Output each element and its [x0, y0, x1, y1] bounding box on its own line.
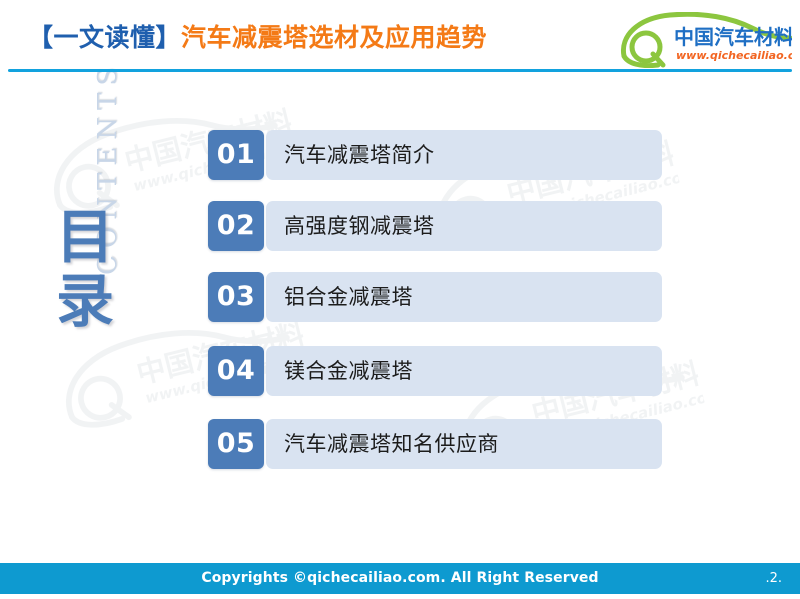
contents-list: 01 汽车减震塔简介 02 高强度钢减震塔 03 铝合金减震塔 04 镁合金减震…: [0, 0, 800, 599]
copyright-text: Copyrights ©qichecailiao.com. All Right …: [0, 563, 800, 594]
list-item-number: 01: [208, 130, 264, 180]
list-item[interactable]: 03 铝合金减震塔: [208, 272, 662, 322]
header-divider: [8, 69, 792, 72]
list-item-label: 铝合金减震塔: [284, 272, 413, 322]
list-item[interactable]: 04 镁合金减震塔: [208, 346, 662, 396]
list-item-label: 汽车减震塔简介: [284, 130, 435, 180]
list-item[interactable]: 02 高强度钢减震塔: [208, 201, 662, 251]
title-bracket-text: 【一文读懂】: [28, 23, 181, 52]
list-item-number: 03: [208, 272, 264, 322]
list-item-number: 02: [208, 201, 264, 251]
list-item[interactable]: 05 汽车减震塔知名供应商: [208, 419, 662, 469]
list-item-label: 高强度钢减震塔: [284, 201, 435, 251]
svg-text:中国汽车材料网: 中国汽车材料网: [674, 25, 792, 49]
title-main-text: 汽车减震塔选材及应用趋势: [181, 23, 487, 52]
svg-text:www.qichecailiao.com: www.qichecailiao.com: [676, 49, 792, 62]
slide-header: 【一文读懂】汽车减震塔选材及应用趋势 中国汽车材料网 www.qichecail…: [0, 0, 800, 72]
page-title: 【一文读懂】汽车减震塔选材及应用趋势: [28, 22, 487, 54]
slide-canvas: 中国汽车材料网 www.qichecailiao.com 中国汽车材料网 www…: [0, 0, 800, 599]
site-logo[interactable]: 中国汽车材料网 www.qichecailiao.com: [612, 12, 792, 68]
slide-footer: Copyrights ©qichecailiao.com. All Right …: [0, 563, 800, 594]
page-number: .2.: [765, 563, 782, 594]
list-item-label: 镁合金减震塔: [284, 346, 413, 396]
list-item[interactable]: 01 汽车减震塔简介: [208, 130, 662, 180]
list-item-number: 04: [208, 346, 264, 396]
list-item-number: 05: [208, 419, 264, 469]
list-item-label: 汽车减震塔知名供应商: [284, 419, 499, 469]
